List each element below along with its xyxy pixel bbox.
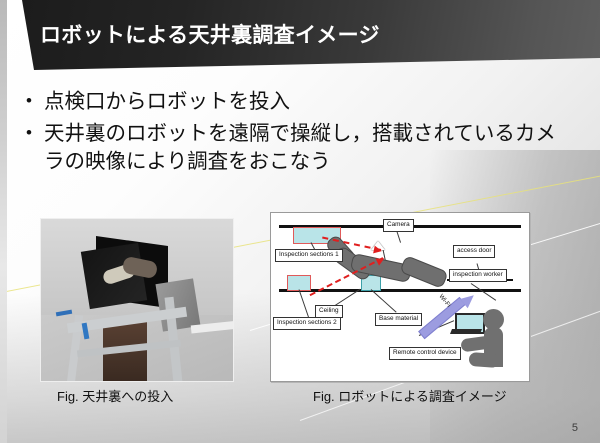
- bullet-marker-icon: •: [26, 88, 44, 114]
- leader-line-insp2: [299, 289, 310, 320]
- bullet-marker-icon: •: [26, 120, 44, 146]
- bullet-text: 天井裏のロボットを遠隔で操縦し，搭載されているカメラの映像により調査をおこなう: [44, 120, 574, 176]
- slide-canvas: ロボットによる天井裏調査イメージ • 点検口からロボットを投入 • 天井裏のロボ…: [0, 0, 600, 443]
- page-title: ロボットによる天井裏調査イメージ: [40, 19, 380, 49]
- page-number: 5: [572, 422, 578, 434]
- label-inspection-sections-1: Inspection sections 1: [275, 249, 343, 262]
- leader-line-base: [371, 289, 397, 312]
- figure-caption-left: Fig. 天井裏への投入: [57, 386, 173, 405]
- list-item: • 点検口からロボットを投入: [26, 88, 574, 116]
- label-inspection-worker: inspection worker: [449, 269, 507, 282]
- worker-leg: [469, 352, 500, 368]
- remote-control-laptop-base: [450, 329, 482, 334]
- ceiling-access-photo: [40, 218, 234, 382]
- robot-arm-segment-4: [399, 255, 448, 289]
- list-item: • 天井裏のロボットを遠隔で操縦し，搭載されているカメラの映像により調査をおこな…: [26, 120, 574, 176]
- label-access-door: access door: [453, 245, 495, 258]
- robot-inspection-diagram: Wi-Fi Inspection sections 1 Camera Ceili…: [270, 212, 530, 382]
- photo-frame-bar: [155, 278, 200, 331]
- bullet-list: • 点検口からロボットを投入 • 天井裏のロボットを遠隔で操縦し，搭載されている…: [26, 88, 574, 180]
- label-camera: Camera: [383, 219, 414, 232]
- title-banner: ロボットによる天井裏調査イメージ: [0, 0, 600, 72]
- label-base-material: Base material: [375, 313, 422, 326]
- label-ceiling: Ceiling: [315, 305, 343, 318]
- label-remote-control-device: Remote control device: [389, 347, 461, 360]
- label-inspection-sections-2: Inspection sections 2: [273, 317, 341, 330]
- bullet-text: 点検口からロボットを投入: [44, 88, 574, 116]
- figure-caption-right: Fig. ロボットによる調査イメージ: [313, 386, 507, 405]
